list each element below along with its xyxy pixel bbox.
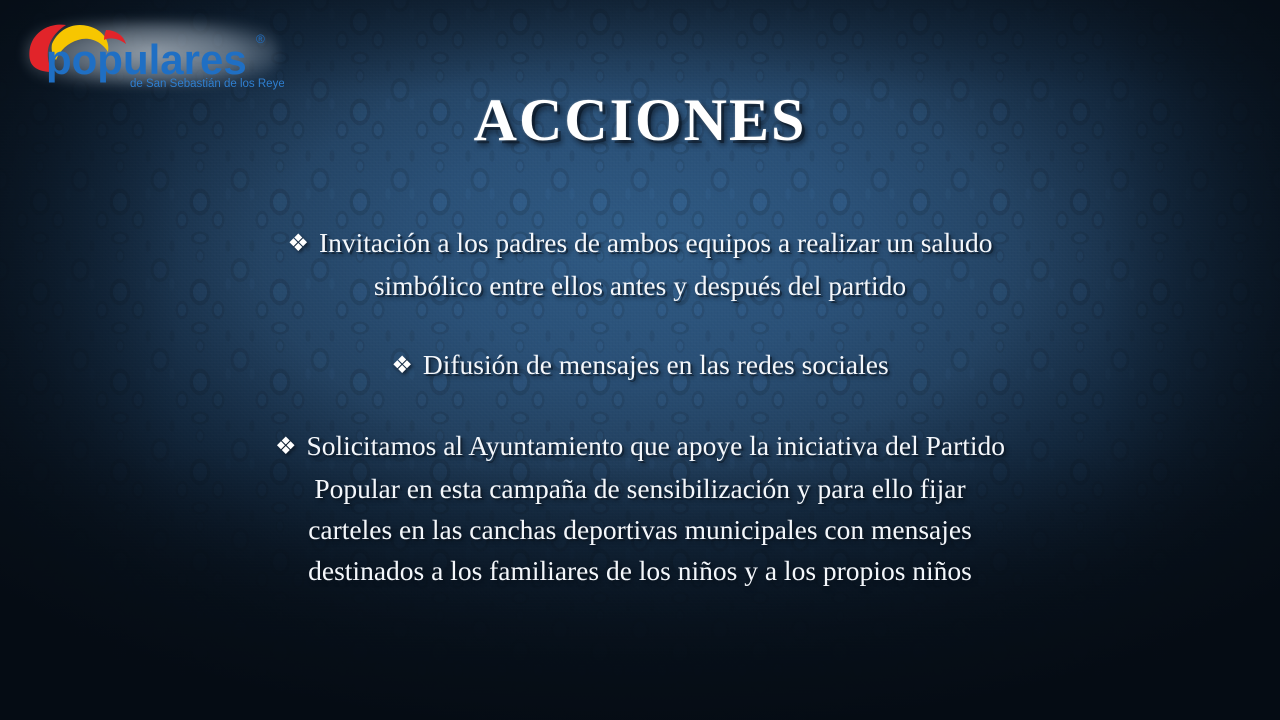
- diamond-bullet-icon: ❖: [275, 427, 297, 468]
- logo-wordmark: populares: [46, 36, 247, 83]
- presentation-slide: populares ® de San Sebastián de los Reye…: [0, 0, 1280, 720]
- bullet-line: ❖Invitación a los padres de ambos equipo…: [120, 222, 1160, 265]
- logo-graphic: populares ® de San Sebastián de los Reye…: [18, 16, 284, 90]
- diamond-bullet-icon: ❖: [391, 346, 413, 387]
- bullet-line: simbólico entre ellos antes y después de…: [120, 265, 1160, 306]
- bullet-line: ❖Solicitamos al Ayuntamiento que apoye l…: [120, 425, 1160, 468]
- slide-title: ACCIONES: [0, 86, 1280, 155]
- bullet-item-1: ❖Invitación a los padres de ambos equipo…: [120, 222, 1160, 306]
- bullet-line: carteles en las canchas deportivas munic…: [120, 509, 1160, 550]
- bullet-line: Popular en esta campaña de sensibilizaci…: [120, 468, 1160, 509]
- slide-body: ❖Invitación a los padres de ambos equipo…: [120, 222, 1160, 591]
- bullet-text: Solicitamos al Ayuntamiento que apoye la…: [306, 430, 1005, 461]
- party-logo: populares ® de San Sebastián de los Reye…: [18, 16, 284, 90]
- logo-registered-icon: ®: [256, 32, 265, 46]
- bullet-text: Difusión de mensajes en las redes social…: [423, 349, 889, 380]
- bullet-item-3: ❖Solicitamos al Ayuntamiento que apoye l…: [120, 425, 1160, 591]
- bullet-line: ❖Difusión de mensajes en las redes socia…: [120, 344, 1160, 387]
- diamond-bullet-icon: ❖: [287, 224, 309, 265]
- bullet-text: Invitación a los padres de ambos equipos…: [319, 227, 993, 258]
- bullet-line: destinados a los familiares de los niños…: [120, 550, 1160, 591]
- bullet-item-2: ❖Difusión de mensajes en las redes socia…: [120, 344, 1160, 387]
